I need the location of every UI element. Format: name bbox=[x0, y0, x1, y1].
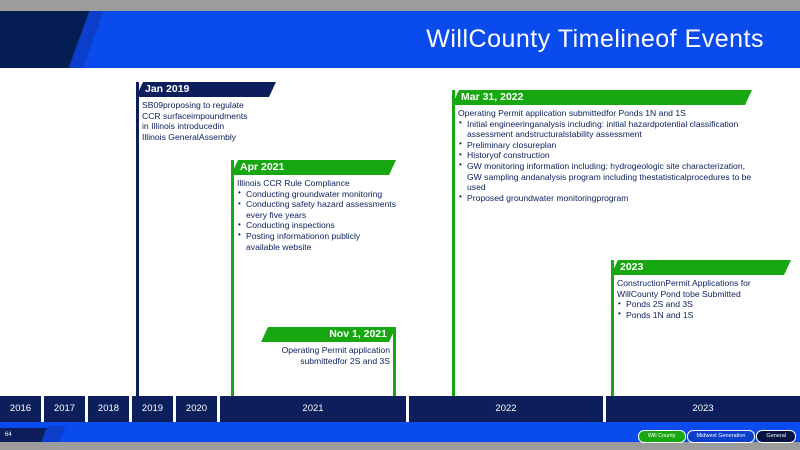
event-body-jan-2019: SB09proposing to regulate CCR surfaceimp… bbox=[136, 97, 276, 142]
list-item: Ponds 1N and 1S bbox=[617, 310, 791, 321]
event-body-mar-31-2022: Operating Permit application submittedfo… bbox=[452, 105, 752, 203]
event-date-apr-2021: Apr 2021 bbox=[240, 160, 284, 175]
event-date-jan-2019: Jan 2019 bbox=[145, 82, 189, 97]
axis-year-2022[interactable]: 2022 bbox=[409, 396, 603, 422]
event-lead: Illinois CCR Rule Compliance bbox=[237, 178, 396, 189]
event-date-nov-1-2021: Nov 1, 2021 bbox=[329, 327, 387, 342]
event-line: Illinois GeneralAssembly bbox=[142, 132, 236, 142]
axis-year-2019[interactable]: 2019 bbox=[132, 396, 173, 422]
list-item: Historyof construction bbox=[458, 150, 752, 161]
slide-canvas: WillCounty Timelineof Events Jan 2019 SB… bbox=[0, 0, 800, 450]
title-banner: WillCounty Timelineof Events bbox=[0, 11, 800, 68]
top-gray-strip bbox=[0, 0, 800, 11]
event-banner-apr-2021: Apr 2021 bbox=[231, 160, 396, 175]
list-item: Proposed groundwater monitoringprogram bbox=[458, 193, 752, 204]
event-card-apr-2021[interactable]: Apr 2021 Illinois CCR Rule Compliance Co… bbox=[231, 160, 396, 252]
event-banner-jan-2019: Jan 2019 bbox=[136, 82, 276, 97]
axis-year-2017[interactable]: 2017 bbox=[44, 396, 85, 422]
event-card-nov-1-2021[interactable]: Nov 1, 2021 Operating Permit application… bbox=[261, 327, 396, 366]
event-line: CCR surfaceimpoundments bbox=[142, 111, 248, 121]
list-item: Ponds 2S and 3S bbox=[617, 299, 791, 310]
event-banner-mar-31-2022: Mar 31, 2022 bbox=[452, 90, 752, 105]
footer-tab-will-county[interactable]: Will County bbox=[638, 430, 686, 443]
list-item: Conducting groundwater monitoring bbox=[237, 189, 396, 200]
axis-year-2023[interactable]: 2023 bbox=[606, 396, 800, 422]
event-lead: Operating Permit application submittedfo… bbox=[458, 108, 752, 119]
footer-bar: 64 Will County Midwest Generation Genera… bbox=[0, 428, 800, 442]
footer-tab-general[interactable]: General bbox=[756, 430, 796, 443]
event-date-mar-31-2022: Mar 31, 2022 bbox=[461, 90, 523, 105]
footer-tab-midwest-generation[interactable]: Midwest Generation bbox=[687, 430, 756, 443]
event-banner-2023: 2023 bbox=[611, 260, 791, 275]
event-card-2023[interactable]: 2023 ConstructionPermit Applications for… bbox=[611, 260, 791, 320]
axis-year-2021[interactable]: 2021 bbox=[220, 396, 406, 422]
list-item: GW monitoring information including: hyd… bbox=[458, 161, 752, 193]
event-body-apr-2021: Illinois CCR Rule Compliance Conducting … bbox=[231, 175, 396, 252]
event-body-nov-1-2021: Operating Permit application submittedfo… bbox=[261, 342, 396, 366]
event-bullet-list: Initial engineeringanalysis including: i… bbox=[458, 119, 752, 204]
event-line: in Illinois introducedin bbox=[142, 121, 224, 131]
axis-year-2016[interactable]: 2016 bbox=[0, 396, 41, 422]
event-line: SB09proposing to regulate bbox=[142, 100, 244, 110]
slide-number: 64 bbox=[5, 428, 12, 442]
event-line: ConstructionPermit Applications for bbox=[617, 278, 751, 288]
list-item: Posting informationon publicly available… bbox=[237, 231, 396, 252]
axis-year-2020[interactable]: 2020 bbox=[176, 396, 217, 422]
footer-tab-group: Will County Midwest Generation General bbox=[638, 428, 796, 442]
event-banner-nov-1-2021: Nov 1, 2021 bbox=[261, 327, 396, 342]
list-item: Initial engineeringanalysis including: i… bbox=[458, 119, 752, 140]
event-card-mar-31-2022[interactable]: Mar 31, 2022 Operating Permit applicatio… bbox=[452, 90, 752, 203]
list-item: Preliminary closureplan bbox=[458, 140, 752, 151]
event-line: WillCounty Pond tobe Submitted bbox=[617, 289, 741, 299]
event-line: submittedfor 2S and 3S bbox=[300, 356, 390, 366]
event-card-jan-2019[interactable]: Jan 2019 SB09proposing to regulate CCR s… bbox=[136, 82, 276, 142]
bottom-gray-strip bbox=[0, 442, 800, 450]
event-bullet-list: Conducting groundwater monitoring Conduc… bbox=[237, 189, 396, 253]
event-date-2023: 2023 bbox=[620, 260, 643, 275]
event-body-2023: ConstructionPermit Applications for Will… bbox=[611, 275, 791, 320]
event-line: Operating Permit application bbox=[282, 345, 390, 355]
event-bullet-list: Ponds 2S and 3S Ponds 1N and 1S bbox=[617, 299, 791, 320]
list-item: Conducting inspections bbox=[237, 220, 396, 231]
timeline-year-axis: 2016 2017 2018 2019 2020 2021 2022 2023 bbox=[0, 396, 800, 422]
page-title: WillCounty Timelineof Events bbox=[426, 11, 764, 68]
axis-year-2018[interactable]: 2018 bbox=[88, 396, 129, 422]
list-item: Conducting safety hazard assessments eve… bbox=[237, 199, 396, 220]
